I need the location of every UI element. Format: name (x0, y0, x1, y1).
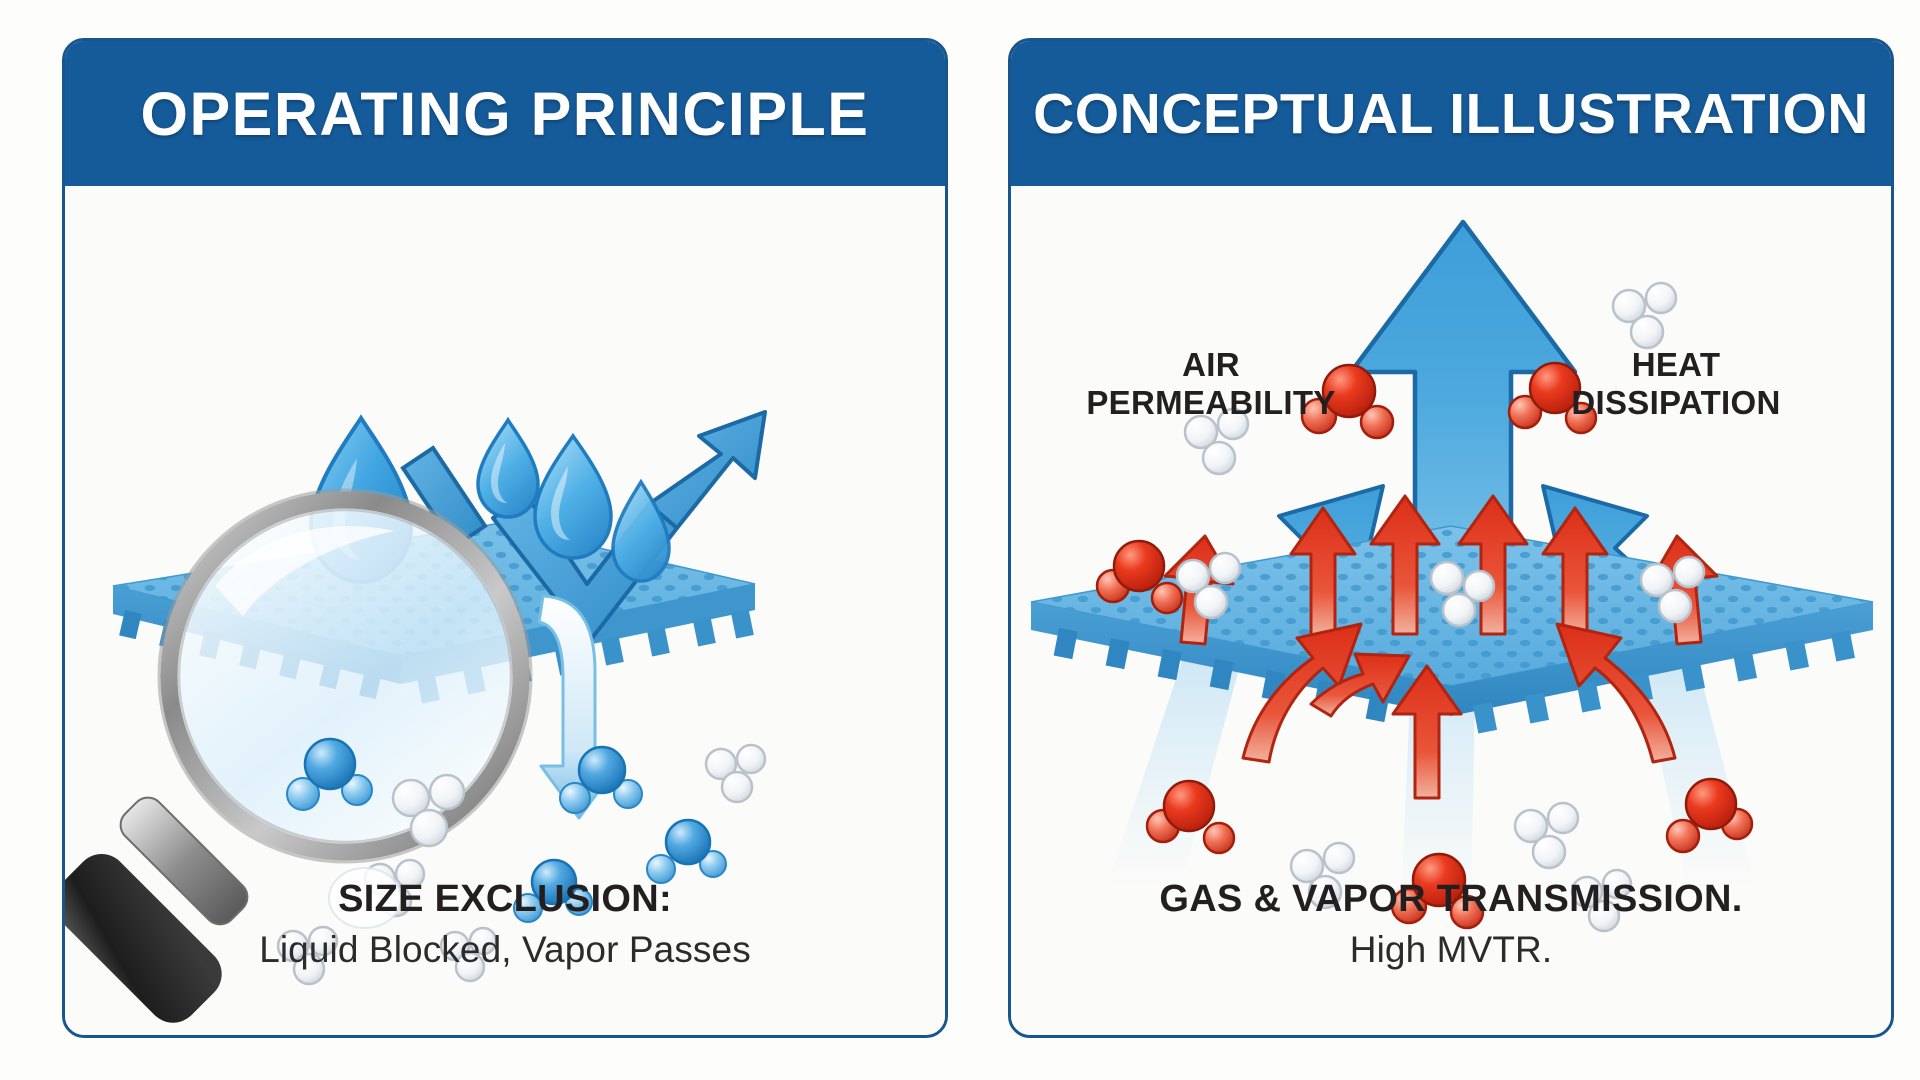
caption-right-line1: GAS & VAPOR TRANSMISSION. (1011, 878, 1891, 921)
water-droplet-small-icon (478, 420, 538, 517)
panel-right-title: CONCEPTUAL ILLUSTRATION (1033, 81, 1869, 147)
vapor-molecule-icon (706, 745, 765, 802)
diagram-canvas: OPERATING PRINCIPLE (0, 0, 1920, 1080)
water-droplet-repelled-icon (535, 436, 611, 558)
water-molecule-icon (647, 820, 726, 883)
panel-right-header: CONCEPTUAL ILLUSTRATION (1011, 41, 1891, 186)
label-air-line2: PERMEABILITY (1031, 384, 1391, 422)
vapor-molecule-icon (1613, 283, 1676, 348)
caption-right-line2: High MVTR. (1011, 929, 1891, 971)
label-heat-line1: HEAT (1511, 346, 1841, 384)
panel-conceptual-illustration: CONCEPTUAL ILLUSTRATION (1008, 38, 1894, 1038)
caption-left-line2: Liquid Blocked, Vapor Passes (65, 929, 945, 971)
label-air-line1: AIR (1031, 346, 1391, 384)
panel-left-body: SIZE EXCLUSION: Liquid Blocked, Vapor Pa… (65, 186, 945, 1038)
panel-left-title: OPERATING PRINCIPLE (141, 79, 870, 149)
panel-right-body: AIR PERMEABILITY HEAT DISSIPATION GAS & … (1011, 186, 1891, 1038)
label-heat-dissipation: HEAT DISSIPATION (1511, 346, 1841, 423)
label-air-permeability: AIR PERMEABILITY (1031, 346, 1391, 423)
vapor-molecule-icon (1515, 803, 1578, 868)
caption-left-line1: SIZE EXCLUSION: (65, 878, 945, 921)
label-heat-line2: DISSIPATION (1511, 384, 1841, 422)
caption-left: SIZE EXCLUSION: Liquid Blocked, Vapor Pa… (65, 878, 945, 971)
panel-operating-principle: OPERATING PRINCIPLE (62, 38, 948, 1038)
caption-right: GAS & VAPOR TRANSMISSION. High MVTR. (1011, 878, 1891, 971)
panel-left-header: OPERATING PRINCIPLE (65, 41, 945, 186)
